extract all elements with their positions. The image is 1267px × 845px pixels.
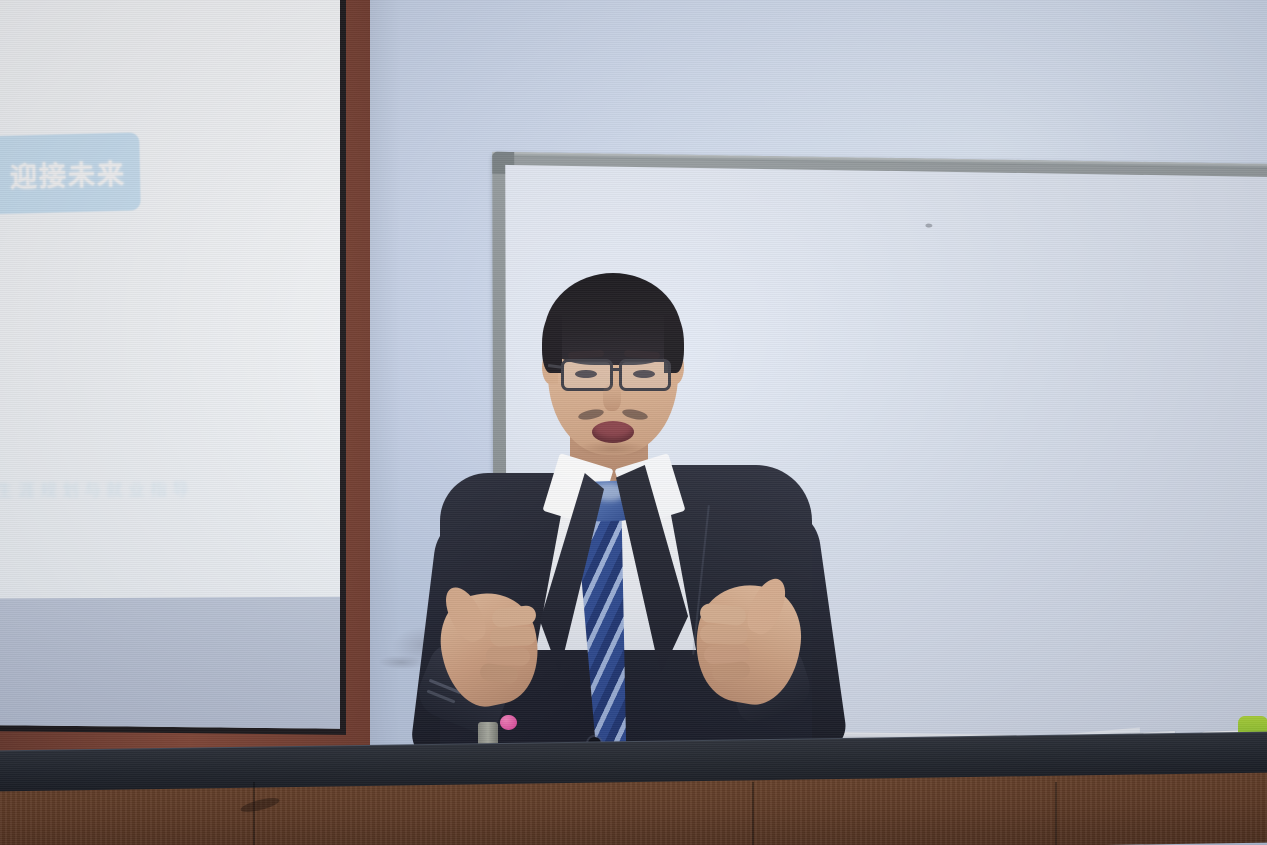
desk-panel-seam — [253, 782, 255, 845]
slide-subtitle-text: 职业生涯规划与就业指导 — [0, 475, 232, 501]
slide-banner: 准备，迎接未来 — [0, 132, 141, 219]
presenter-chin-shadow — [576, 441, 650, 457]
presenter-mouth — [592, 421, 634, 443]
pink-marker — [500, 715, 517, 730]
presenter-nose — [603, 383, 621, 411]
screen-unlit-area — [0, 579, 340, 729]
projected-slide: 准备，迎接未来 24 职业生涯规划与就业指导 — [0, 0, 340, 599]
presenter-hair — [544, 273, 682, 365]
eyeglasses-lens-right — [619, 359, 671, 391]
whiteboard-speck — [925, 224, 932, 228]
eyeglasses-bridge — [612, 368, 622, 371]
projection-screen: 准备，迎接未来 24 职业生涯规划与就业指导 — [0, 0, 370, 763]
right-hand-finger — [700, 624, 749, 645]
classroom-presentation-photo: 准备，迎接未来 24 职业生涯规划与就业指导 — [0, 0, 1267, 845]
slide-banner-text: 准备，迎接未来 — [0, 152, 126, 196]
desk-panel-seam — [752, 782, 754, 845]
left-hand-finger — [490, 626, 537, 647]
screen-surface: 准备，迎接未来 24 职业生涯规划与就业指导 — [0, 0, 340, 729]
desk-panel-seam — [1055, 782, 1057, 845]
